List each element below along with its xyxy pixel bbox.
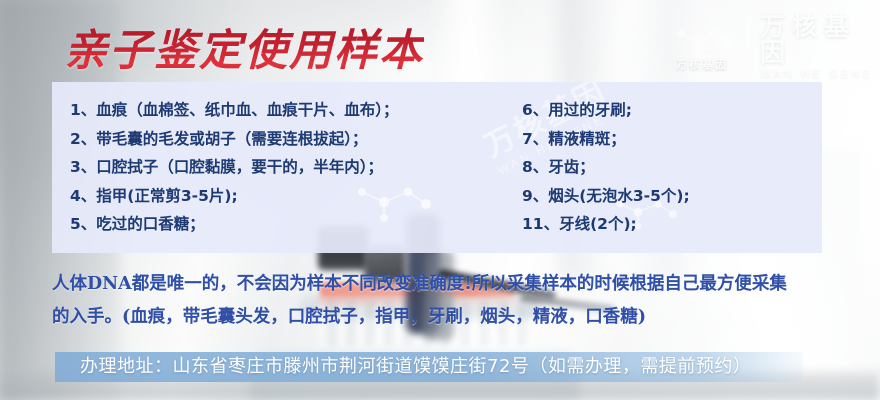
sample-list-card: 万核基因 WAN HE GENE [52, 82, 822, 253]
list-item: 1、血痕（血棉签、纸巾血、血痕干片、血布）； [70, 96, 510, 125]
list-item: 3、口腔拭子（口腔黏膜，要干的，半年内）； [70, 153, 510, 182]
list-item: 5、吃过的口香糖； [70, 210, 510, 239]
brand-name-en: WAN HE GENE [760, 68, 880, 80]
sample-column-left: 1、血痕（血棉签、纸巾血、血痕干片、血布）； 2、带毛囊的毛发或胡子（需要连根拔… [52, 82, 510, 253]
paragraph-line-2: 的入手。(血痕，带毛囊头发，口腔拭子，指甲，牙刷，烟头，精液，口香糖) [52, 301, 852, 334]
list-item: 8、牙齿； [522, 153, 822, 182]
sample-column-right: 6、用过的牙刷; 7、精液精斑； 8、牙齿； 9、烟头(无泡水3-5个); 11… [510, 82, 822, 253]
list-item: 6、用过的牙刷; [522, 96, 822, 125]
sample-columns: 1、血痕（血棉签、纸巾血、血痕干片、血布）； 2、带毛囊的毛发或胡子（需要连根拔… [52, 82, 822, 253]
list-item: 4、指甲(正常剪3-5片); [70, 182, 510, 211]
list-item: 2、带毛囊的毛发或胡子（需要连根拔起）； [70, 125, 510, 154]
list-item: 9、烟头(无泡水3-5个); [522, 182, 822, 211]
address-text: 办理地址：山东省枣庄市滕州市荆河街道馍馍庄街72号（如需办理，需提前预约） [80, 352, 880, 382]
page-title: 亲子鉴定使用样本 [64, 16, 424, 78]
paragraph-line-1: 人体DNA都是唯一的，不会因为样本不同改变准确度!所以采集样本的时候根据自己最方… [52, 268, 852, 301]
poster-canvas: 万核基因 万核基因 WAN HE GENE 亲子鉴定使用样本 万核基因 WAN … [0, 0, 880, 400]
molecule-icon: 万核基因 [672, 24, 738, 70]
explanation-paragraph: 人体DNA都是唯一的，不会因为样本不同改变准确度!所以采集样本的时候根据自己最方… [52, 268, 852, 334]
brand-mark-label: 万核基因 [676, 56, 728, 72]
list-item: 11、牙线(2个); [522, 210, 822, 239]
list-item: 7、精液精斑； [522, 125, 822, 154]
brand-logo: 万核基因 万核基因 WAN HE GENE [672, 14, 880, 80]
brand-wordmark: 万核基因 WAN HE GENE [748, 14, 880, 80]
brand-name-cn: 万核基因 [760, 14, 880, 67]
